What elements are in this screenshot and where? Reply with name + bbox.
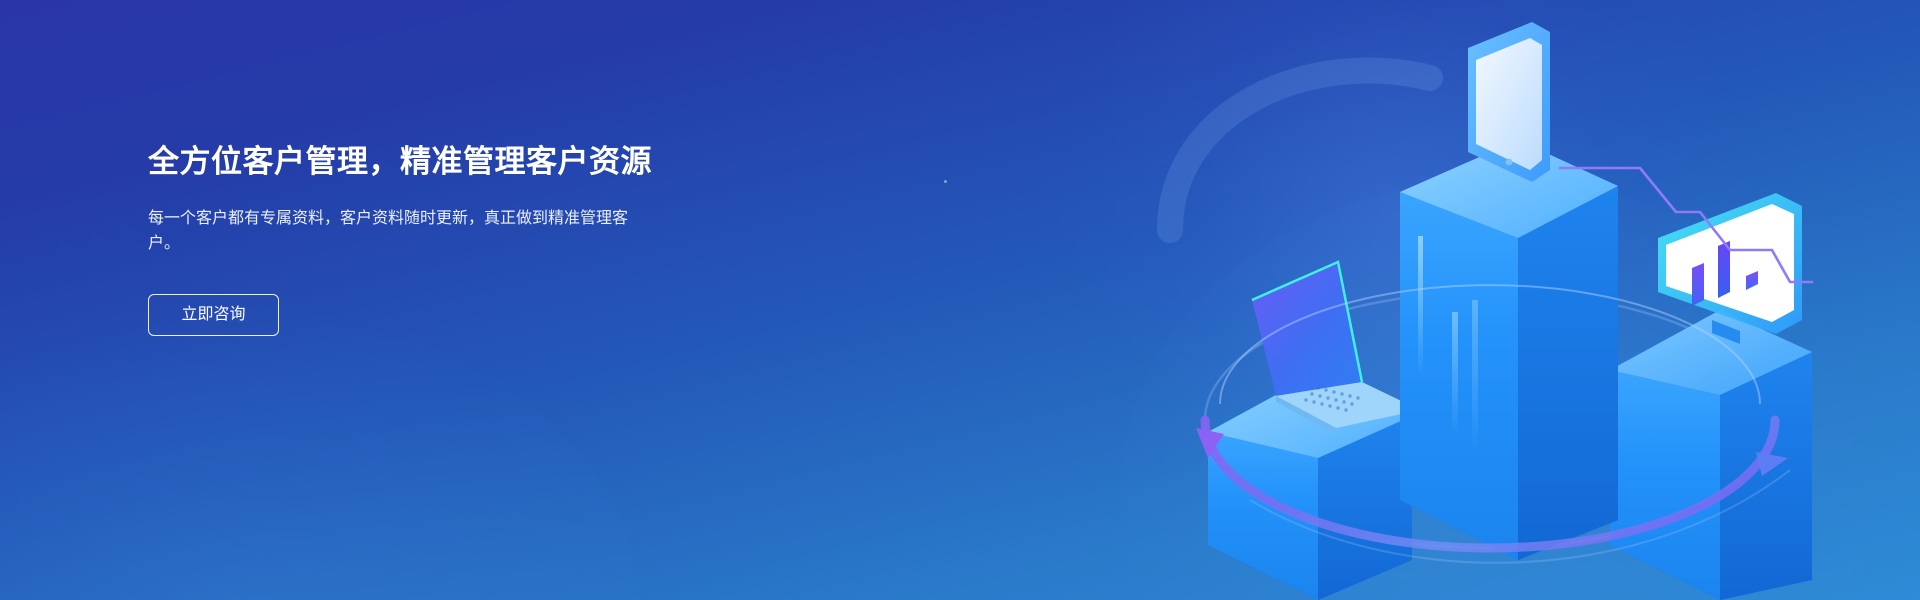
hero-subtitle: 每一个客户都有专属资料，客户资料随时更新，真正做到精准管理客户。 (148, 206, 630, 256)
page-title: 全方位客户管理，精准管理客户资源 (148, 140, 788, 184)
pillar-stripe (1472, 300, 1478, 450)
pillar-center (1400, 140, 1618, 560)
hero-illustration (1100, 0, 1920, 600)
background-speck (944, 180, 947, 183)
pillar-right (1610, 310, 1812, 600)
background-glow-left (0, 300, 640, 600)
hero-banner: 全方位客户管理，精准管理客户资源 每一个客户都有专属资料，客户资料随时更新，真正… (0, 0, 1920, 600)
hero-copy: 全方位客户管理，精准管理客户资源 每一个客户都有专属资料，客户资料随时更新，真正… (148, 140, 788, 336)
pillar-stripe (1452, 312, 1458, 432)
consult-now-button[interactable]: 立即咨询 (148, 294, 279, 336)
background-arc (1170, 71, 1430, 230)
tablet-home-button (1506, 159, 1513, 166)
pillar-stripe (1418, 236, 1423, 376)
